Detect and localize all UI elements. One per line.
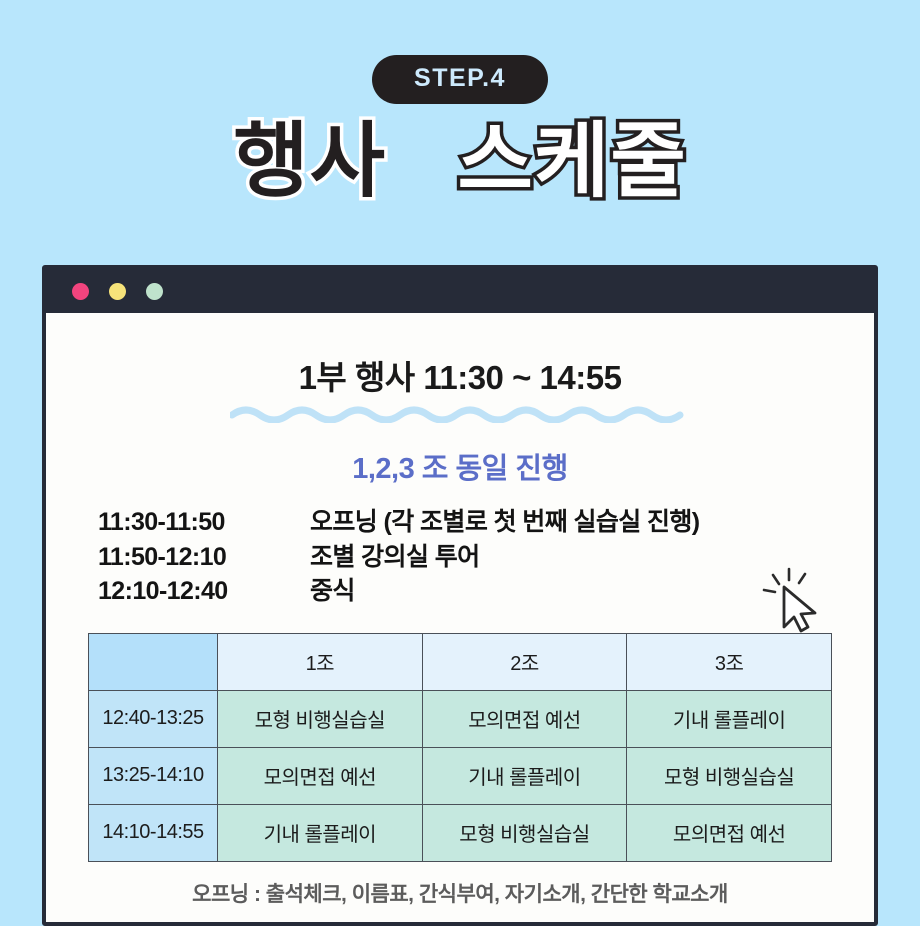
table-cell-activity: 기내 롤플레이: [218, 804, 423, 861]
schedule-table: 1조 2조 3조 12:40-13:25 모형 비행실습실 모의면접 예선 기내…: [88, 633, 832, 862]
agenda-item-time: 11:50-12:10: [98, 540, 310, 575]
table-row-time: 13:25-14:10: [89, 747, 218, 804]
table-column-header-group-3: 3조: [627, 633, 832, 690]
browser-content-area: 1부 행사 11:30 ~ 14:55 1,2,3 조 동일 진행 11:30-…: [46, 313, 874, 922]
table-cell-activity: 모의면접 예선: [422, 690, 627, 747]
table-cell-activity: 모형 비행실습실: [627, 747, 832, 804]
table-row: 12:40-13:25 모형 비행실습실 모의면접 예선 기내 롤플레이: [89, 690, 832, 747]
click-cursor-icon: [756, 563, 830, 637]
table-cell-activity: 기내 롤플레이: [422, 747, 627, 804]
footer-note: 오프닝 : 출석체크, 이름표, 간식부여, 자기소개, 간단한 학교소개: [46, 878, 874, 908]
page-title: 행사 스케줄: [0, 118, 920, 207]
table-cell-activity: 모의면접 예선: [218, 747, 423, 804]
traffic-dot-red-icon[interactable]: [72, 283, 89, 300]
schedule-table-head: 1조 2조 3조: [89, 633, 832, 690]
page-title-part-1: 행사: [233, 116, 386, 207]
table-column-header-group-2: 2조: [422, 633, 627, 690]
table-corner-cell: [89, 633, 218, 690]
agenda-item-time: 11:30-11:50: [98, 505, 310, 540]
table-row-time: 12:40-13:25: [89, 690, 218, 747]
step-badge-container: STEP.4: [0, 0, 920, 104]
browser-title-bar: [46, 269, 874, 313]
traffic-dot-green-icon[interactable]: [146, 283, 163, 300]
agenda-item: 11:30-11:50 오프닝 (각 조별로 첫 번째 실습실 진행): [98, 505, 874, 540]
traffic-dot-yellow-icon[interactable]: [109, 283, 126, 300]
page-title-part-2: 스케줄: [457, 116, 686, 207]
table-header-row: 1조 2조 3조: [89, 633, 832, 690]
table-cell-activity: 기내 롤플레이: [627, 690, 832, 747]
table-cell-activity: 모의면접 예선: [627, 804, 832, 861]
table-column-header-group-1: 1조: [218, 633, 423, 690]
schedule-table-body: 12:40-13:25 모형 비행실습실 모의면접 예선 기내 롤플레이 13:…: [89, 690, 832, 861]
section-heading: 1부 행사 11:30 ~ 14:55: [46, 313, 874, 399]
agenda-item-description: 오프닝 (각 조별로 첫 번째 실습실 진행): [310, 505, 874, 540]
table-row: 13:25-14:10 모의면접 예선 기내 롤플레이 모형 비행실습실: [89, 747, 832, 804]
step-badge: STEP.4: [372, 55, 548, 104]
section-subtitle: 1,2,3 조 동일 진행: [46, 445, 874, 487]
table-cell-activity: 모형 비행실습실: [218, 690, 423, 747]
agenda-item-time: 12:10-12:40: [98, 574, 310, 609]
browser-window-card: 1부 행사 11:30 ~ 14:55 1,2,3 조 동일 진행 11:30-…: [42, 265, 878, 926]
table-row: 14:10-14:55 기내 롤플레이 모형 비행실습실 모의면접 예선: [89, 804, 832, 861]
table-row-time: 14:10-14:55: [89, 804, 218, 861]
wave-divider: [46, 403, 874, 423]
table-cell-activity: 모형 비행실습실: [422, 804, 627, 861]
wave-divider-icon: [230, 403, 690, 423]
